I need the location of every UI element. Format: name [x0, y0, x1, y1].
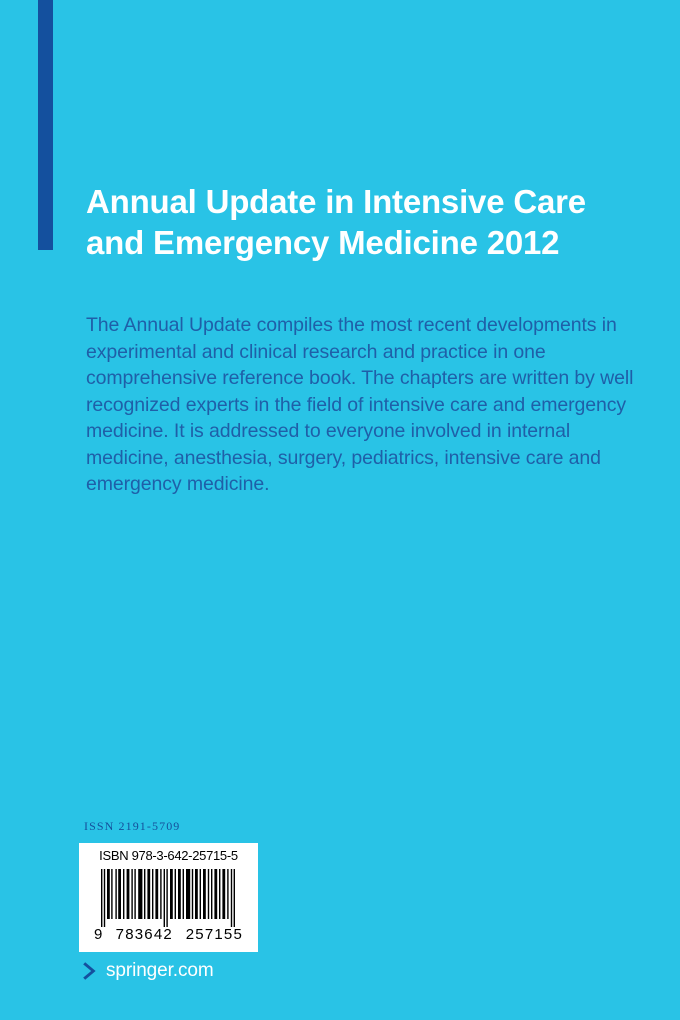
ean13-barcode-icon	[101, 869, 237, 927]
springer-footer[interactable]: springer.com	[82, 958, 214, 984]
spine-accent-bar	[38, 0, 53, 250]
springer-website-label: springer.com	[106, 961, 214, 981]
book-back-cover: Annual Update in Intensive Care and Emer…	[0, 0, 680, 1020]
issn-label: ISSN 2191-5709	[84, 819, 180, 834]
isbn-label: ISBN 978-3-642-25715-5	[79, 848, 258, 863]
ean-right-group: 257155	[186, 926, 243, 943]
barcode-panel: ISBN 978-3-642-25715-5	[79, 843, 258, 952]
book-title-line-2: and Emergency Medicine 2012	[86, 222, 626, 263]
book-title-line-1: Annual Update in Intensive Care	[86, 181, 626, 222]
ean-left-group: 783642	[116, 926, 173, 943]
book-title: Annual Update in Intensive Care and Emer…	[86, 181, 626, 263]
ean-lead-digit: 9	[94, 926, 103, 943]
chevron-right-icon	[82, 961, 99, 981]
ean13-digits: 9 783642 257155	[93, 926, 245, 943]
book-description: The Annual Update compiles the most rece…	[86, 312, 638, 498]
